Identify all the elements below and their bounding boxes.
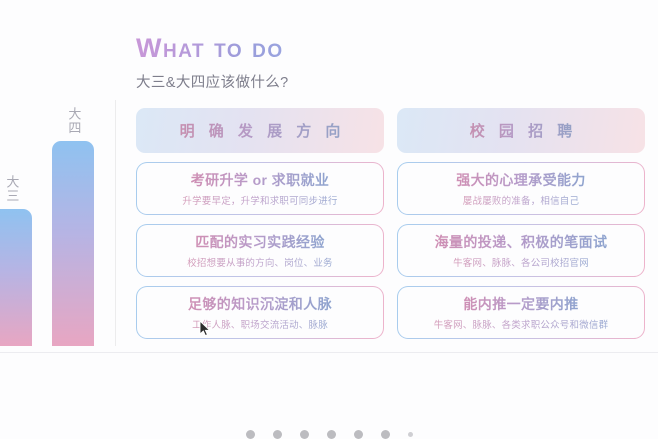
slide-viewport: 大三 大四 What to do 大三&大四应该做什么? 明 确 发 展 方 向…	[0, 0, 658, 439]
column-recruitment: 校 园 招 聘 强大的心理承受能力 屡战屡败的准备，相信自己 海量的投递、积极的…	[397, 108, 645, 339]
column-direction: 明 确 发 展 方 向 考研升学 or 求职就业 升学要早定，升学和求职可同步进…	[136, 108, 384, 339]
card-direction-1-title: 考研升学 or 求职就业	[191, 170, 330, 190]
pagination-dot[interactable]	[354, 430, 363, 439]
page-subtitle: 大三&大四应该做什么?	[136, 71, 289, 92]
card-recruitment-2-inner: 海量的投递、积极的笔面试 牛客网、脉脉、各公司校招官网	[398, 225, 644, 276]
page-title: What to do	[136, 33, 289, 64]
card-direction-1[interactable]: 考研升学 or 求职就业 升学要早定，升学和求职可同步进行	[136, 162, 384, 215]
card-recruitment-3[interactable]: 能内推一定要内推 牛客网、脉脉、各类求职公众号和微信群	[397, 286, 645, 339]
card-recruitment-1-inner: 强大的心理承受能力 屡战屡败的准备，相信自己	[398, 163, 644, 214]
vertical-divider	[115, 100, 116, 346]
card-direction-2-subtitle: 校招想要从事的方向、岗位、业务	[187, 255, 333, 269]
card-direction-3-subtitle: 工作人脉、职场交流活动、脉脉	[192, 317, 328, 331]
year-group-junior: 大三	[0, 175, 32, 346]
card-recruitment-3-subtitle: 牛客网、脉脉、各类求职公众号和微信群	[434, 317, 609, 331]
card-recruitment-2[interactable]: 海量的投递、积极的笔面试 牛客网、脉脉、各公司校招官网	[397, 224, 645, 277]
year-group-senior: 大四	[52, 107, 94, 346]
card-direction-2-inner: 匹配的实习实践经验 校招想要从事的方向、岗位、业务	[137, 225, 383, 276]
pagination-dot[interactable]	[246, 430, 255, 439]
card-recruitment-3-inner: 能内推一定要内推 牛客网、脉脉、各类求职公众号和微信群	[398, 287, 644, 338]
card-direction-3[interactable]: 足够的知识沉淀和人脉 工作人脉、职场交流活动、脉脉	[136, 286, 384, 339]
year-label-junior: 大三	[2, 175, 21, 203]
pagination-dot[interactable]	[381, 430, 390, 439]
slide-canvas: 大三 大四 What to do 大三&大四应该做什么? 明 确 发 展 方 向…	[0, 0, 658, 352]
year-bar-junior	[0, 209, 32, 346]
pagination-dots[interactable]	[0, 430, 658, 439]
column-header-direction-label: 明 确 发 展 方 向	[175, 120, 346, 141]
column-header-direction: 明 确 发 展 方 向	[136, 108, 384, 153]
card-recruitment-2-subtitle: 牛客网、脉脉、各公司校招官网	[453, 255, 589, 269]
card-recruitment-2-title: 海量的投递、积极的笔面试	[435, 232, 608, 252]
headline-block: What to do 大三&大四应该做什么?	[136, 33, 289, 92]
card-direction-3-title: 足够的知识沉淀和人脉	[188, 294, 332, 314]
pagination-dot[interactable]	[300, 430, 309, 439]
card-direction-2-title: 匹配的实习实践经验	[195, 232, 325, 252]
slide-bottom-divider	[0, 352, 658, 353]
column-header-recruitment: 校 园 招 聘	[397, 108, 645, 153]
card-recruitment-1[interactable]: 强大的心理承受能力 屡战屡败的准备，相信自己	[397, 162, 645, 215]
card-direction-1-subtitle: 升学要早定，升学和求职可同步进行	[182, 193, 337, 207]
card-recruitment-1-subtitle: 屡战屡败的准备，相信自己	[463, 193, 579, 207]
year-label-senior: 大四	[64, 107, 83, 135]
pagination-dot[interactable]	[273, 430, 282, 439]
card-recruitment-1-title: 强大的心理承受能力	[456, 170, 586, 190]
card-direction-2[interactable]: 匹配的实习实践经验 校招想要从事的方向、岗位、业务	[136, 224, 384, 277]
pagination-dot[interactable]	[408, 432, 413, 437]
column-header-recruitment-label: 校 园 招 聘	[465, 120, 578, 141]
card-recruitment-3-title: 能内推一定要内推	[463, 294, 578, 314]
card-direction-1-inner: 考研升学 or 求职就业 升学要早定，升学和求职可同步进行	[137, 163, 383, 214]
year-bars-panel: 大三 大四	[0, 100, 116, 346]
pagination-dot[interactable]	[327, 430, 336, 439]
year-bar-senior	[52, 141, 94, 346]
card-direction-3-inner: 足够的知识沉淀和人脉 工作人脉、职场交流活动、脉脉	[137, 287, 383, 338]
